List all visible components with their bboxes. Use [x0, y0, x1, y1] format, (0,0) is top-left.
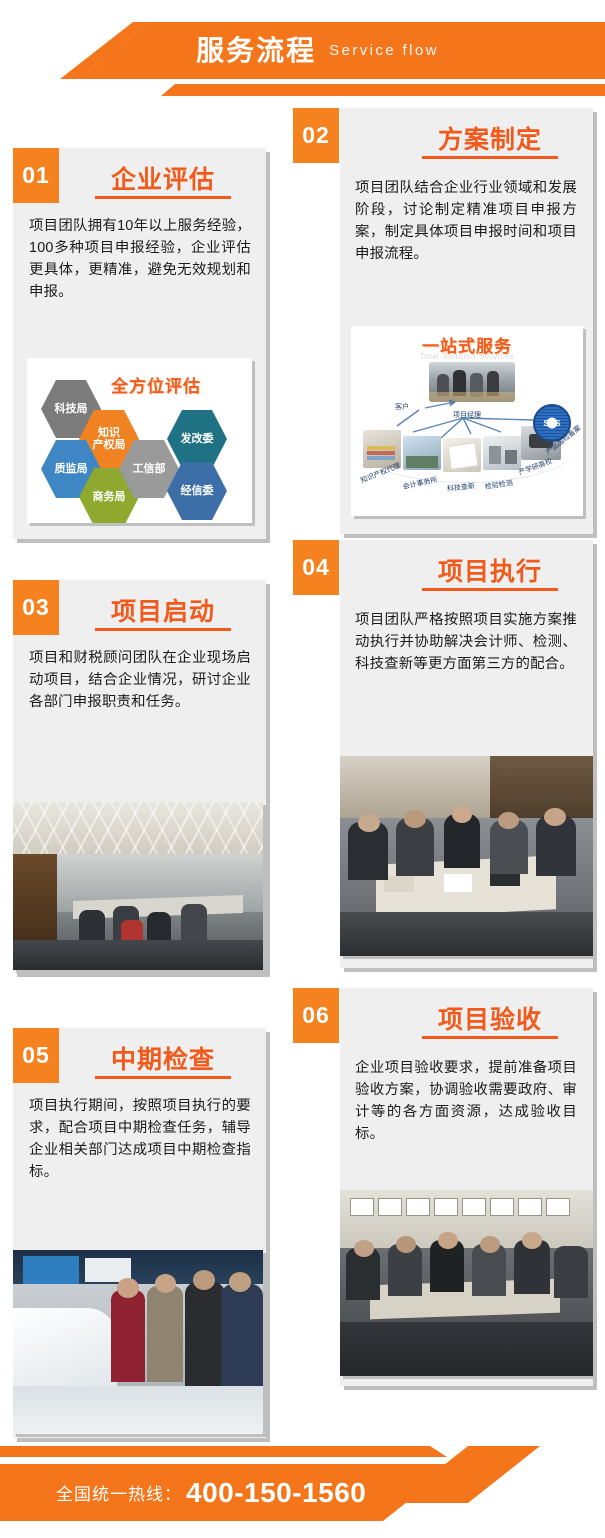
title-underline: [422, 1036, 558, 1039]
leaf-photo-search: [443, 438, 481, 472]
card-description: 项目执行期间，按照项目执行的要求，配合项目中期检查任务，辅导企业相关部门达成项目…: [29, 1096, 251, 1184]
title-underline: [422, 156, 558, 159]
card-title: 项目验收: [400, 1000, 580, 1036]
node-project-manager: 项目经理: [453, 410, 481, 420]
step-card-01: 01 企业评估 项目团队拥有10年以上服务经验，100多种项目申报经验，企业评估…: [13, 148, 271, 544]
figure-one-stop-service: 一站式服务 Total Solution Services 客户 项目经理: [351, 326, 583, 516]
page-header: 服务流程 Service flow: [0, 0, 605, 105]
step-number-badge: 04: [293, 540, 339, 595]
title-underline: [95, 628, 231, 631]
card-description: 项目和财税顾问团队在企业现场启动项目，结合企业情况，研讨企业各部门申报职责和任务…: [29, 648, 251, 714]
step-number-badge: 01: [13, 148, 59, 203]
page-title: 服务流程: [196, 37, 316, 65]
figure-meeting-photo: [429, 362, 515, 402]
step-number: 04: [302, 554, 330, 581]
step-number: 05: [22, 1042, 50, 1069]
card-title: 企业评估: [73, 160, 253, 196]
step-number: 01: [22, 162, 50, 189]
step-card-04: 04 项目执行 项目团队严格按照项目实施方案推动执行并协助解决会计师、检测、科技…: [293, 540, 593, 972]
node-customer: 客户: [395, 402, 409, 412]
step-number-badge: 02: [293, 108, 339, 163]
leaf-label-2: 科技查新: [446, 481, 475, 494]
card-title: 项目执行: [400, 552, 580, 588]
step-number: 03: [22, 594, 50, 621]
card-title: 中期检查: [73, 1040, 253, 1076]
figure-subtitle: Total Solution Services: [351, 352, 583, 361]
header-accent-stripe: [0, 84, 605, 96]
figure-photo-03: [13, 802, 263, 970]
step-card-03: 03 项目启动 项目和财税顾问团队在企业现场启动项目，结合企业情况，研讨企业各部…: [13, 580, 271, 978]
leaf-photo-accounting: [403, 436, 441, 470]
figure-photo-05: [13, 1250, 263, 1434]
figure-hexagon-diagram: 全方位评估 科技局 知识产权局 质监局 商务局 工信部 发改委 经信委: [27, 358, 252, 523]
step-number: 02: [302, 122, 330, 149]
step-number-badge: 03: [13, 580, 59, 635]
step-number-badge: 06: [293, 988, 339, 1043]
step-card-02: 02 方案制定 项目团队结合企业行业领域和发展阶段，讨论制定精准项目申报方案，制…: [293, 108, 593, 538]
step-number: 06: [302, 1002, 330, 1029]
figure-photo-04: [340, 756, 593, 956]
page-footer: 全国统一热线： 400-150-1560: [0, 1438, 605, 1538]
step-number-badge: 05: [13, 1028, 59, 1083]
title-underline: [95, 1076, 231, 1079]
step-card-05: 05 中期检查 项目执行期间，按照项目执行的要求，配合项目中期检查任务，辅导企业…: [13, 1028, 271, 1442]
card-description: 企业项目验收要求，提前准备项目验收方案，协调验收需要政府、审计等的各方面资源，达…: [355, 1058, 577, 1146]
figure-photo-06: [340, 1190, 593, 1376]
card-title: 方案制定: [400, 120, 580, 156]
card-description: 项目团队拥有10年以上服务经验，100多种项目申报经验，企业评估更具体，更精准，…: [29, 216, 251, 304]
card-description: 项目团队结合企业行业领域和发展阶段，讨论制定精准项目申报方案，制定具体项目申报时…: [355, 178, 577, 266]
title-underline: [95, 196, 231, 199]
card-description: 项目团队严格按照项目实施方案推动执行并协助解决会计师、检测、科技查新等更方面第三…: [355, 610, 577, 676]
footer-hotline-group: 全国统一热线： 400-150-1560: [0, 1464, 455, 1521]
page-subtitle: Service flow: [329, 42, 439, 59]
hex-node-fagai: 发改委: [167, 410, 227, 468]
hotline-number[interactable]: 400-150-1560: [186, 1477, 366, 1509]
leaf-photo-testing: [483, 436, 521, 470]
hotline-label: 全国统一热线：: [56, 1480, 182, 1505]
title-underline: [422, 588, 558, 591]
header-title-group: 服务流程 Service flow: [0, 22, 605, 79]
card-title: 项目启动: [73, 592, 253, 628]
step-card-06: 06 项目验收 企业项目验收要求，提前准备项目验收方案，协调验收需要政府、审计等…: [293, 988, 593, 1390]
figure-title: 全方位评估: [111, 372, 201, 397]
